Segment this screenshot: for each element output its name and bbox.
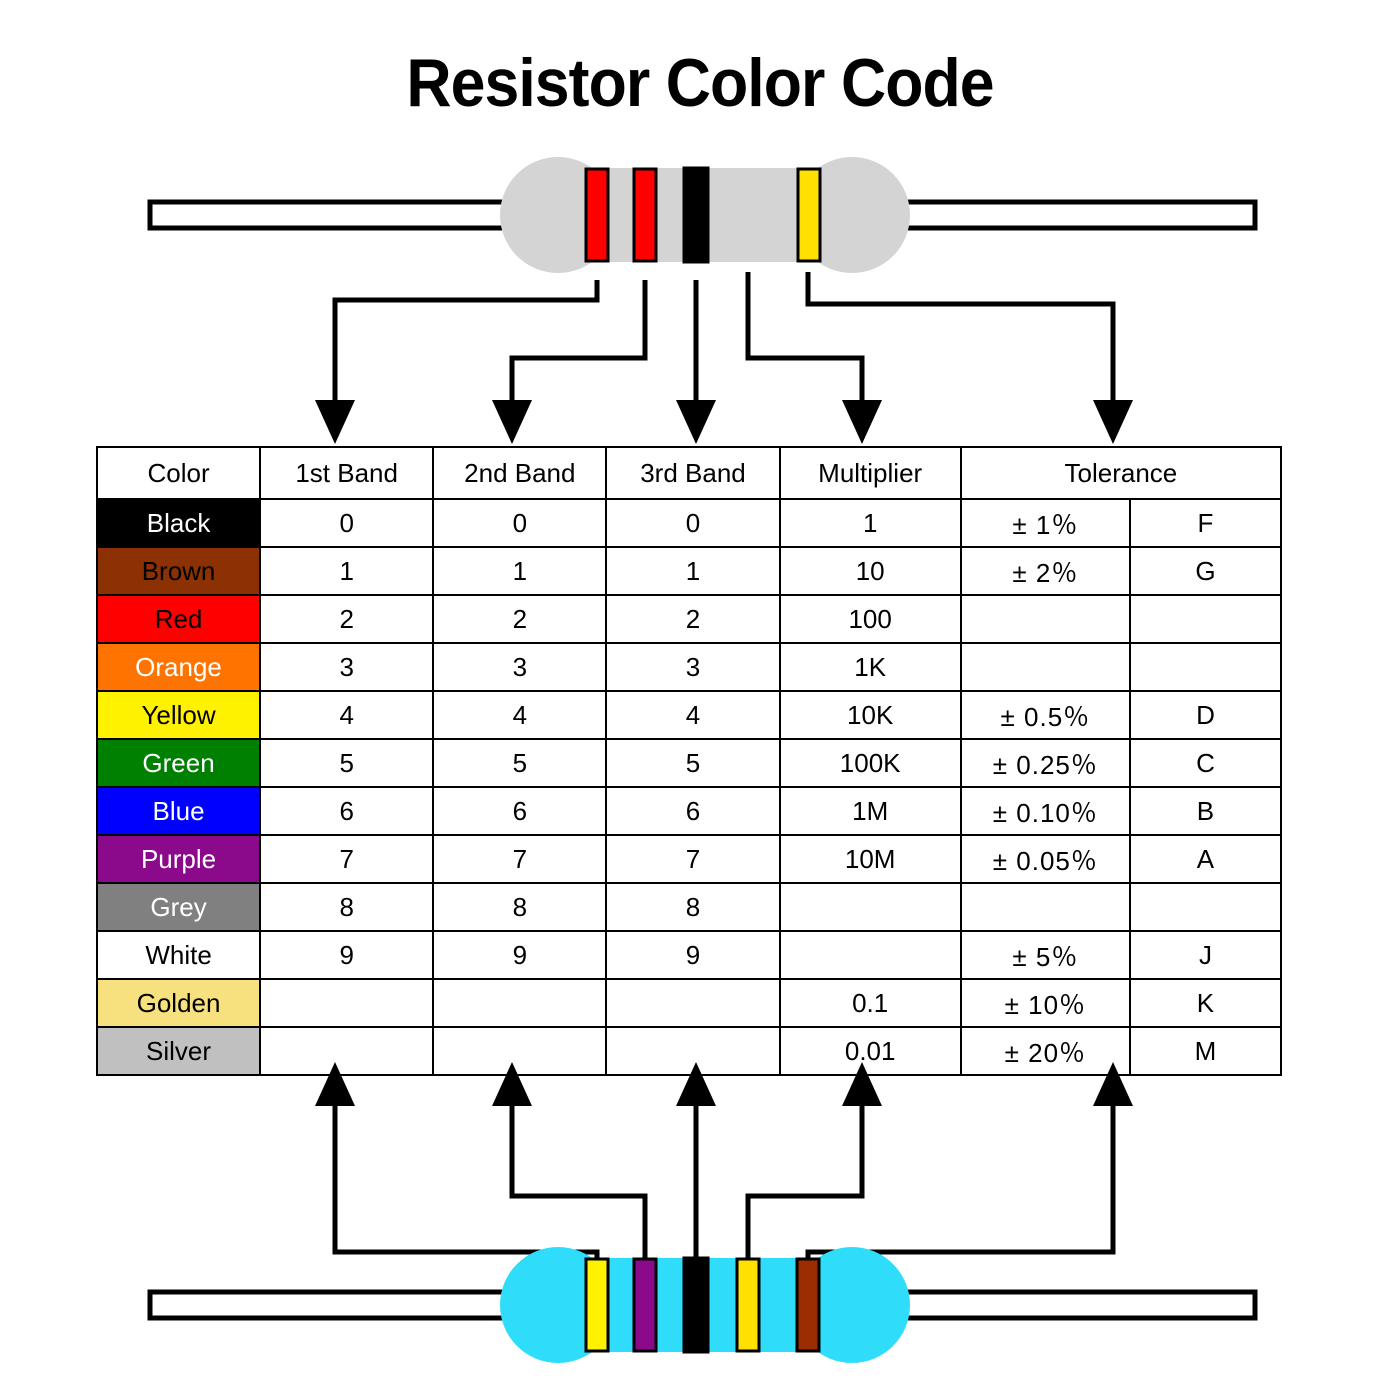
row-multiplier [780,931,961,979]
table-row: Orange3331K [97,643,1281,691]
row-color-swatch: Orange [97,643,260,691]
top-connector-lines [0,262,1400,452]
row-band-1: 1 [260,547,433,595]
row-band-3 [606,1027,779,1075]
table-row: White999± 5％J [97,931,1281,979]
arrowhead-band1 [315,400,355,444]
row-band-1: 7 [260,835,433,883]
row-tolerance-letter: D [1130,691,1281,739]
row-color-swatch: Yellow [97,691,260,739]
table-row: Blue6661M± 0.10％B [97,787,1281,835]
arrowhead-band2 [492,400,532,444]
header-band-3: 3rd Band [606,447,779,499]
row-tolerance: ± 0.5％ [961,691,1130,739]
row-band-2: 6 [433,787,606,835]
top-resistor-band-2 [634,169,656,261]
table-row: Golden0.1± 10％K [97,979,1281,1027]
row-band-2: 8 [433,883,606,931]
row-tolerance-letter [1130,643,1281,691]
top-resistor-band-1 [586,169,608,261]
row-multiplier: 10K [780,691,961,739]
row-band-2: 0 [433,499,606,547]
row-color-swatch: Blue [97,787,260,835]
bottom-resistor-left-lead [150,1292,550,1318]
arrowhead-tolerance [1093,400,1133,444]
table-row: Red222100 [97,595,1281,643]
connector-tolerance [808,272,1113,402]
row-multiplier: 0.1 [780,979,961,1027]
row-color-swatch: Silver [97,1027,260,1075]
bottom-resistor-band-multiplier [737,1259,759,1351]
table-header-row: Color 1st Band 2nd Band 3rd Band Multipl… [97,447,1281,499]
row-band-3: 8 [606,883,779,931]
row-multiplier: 1M [780,787,961,835]
row-tolerance-letter: A [1130,835,1281,883]
row-tolerance: ± 10％ [961,979,1130,1027]
row-color-swatch: White [97,931,260,979]
row-tolerance-letter: K [1130,979,1281,1027]
row-band-1: 3 [260,643,433,691]
row-tolerance-letter [1130,595,1281,643]
row-multiplier: 10 [780,547,961,595]
top-resistor-right-lead [870,202,1255,228]
row-band-1: 2 [260,595,433,643]
top-resistor-band-3 [684,168,708,262]
top-resistor-band-multiplier [798,169,820,261]
row-band-2: 4 [433,691,606,739]
row-color-swatch: Golden [97,979,260,1027]
row-color-swatch: Brown [97,547,260,595]
header-tolerance: Tolerance [961,447,1281,499]
row-tolerance-letter: C [1130,739,1281,787]
row-tolerance-letter: B [1130,787,1281,835]
row-tolerance-letter: J [1130,931,1281,979]
row-multiplier: 100 [780,595,961,643]
row-band-3: 4 [606,691,779,739]
row-multiplier: 100K [780,739,961,787]
row-band-1: 9 [260,931,433,979]
row-band-1 [260,1027,433,1075]
row-tolerance-letter: M [1130,1027,1281,1075]
row-tolerance: ± 1％ [961,499,1130,547]
bottom-resistor-right-lead [870,1292,1255,1318]
table-row: Silver0.01± 20％M [97,1027,1281,1075]
row-tolerance: ± 5％ [961,931,1130,979]
bottom-resistor-band-2 [634,1259,656,1351]
connector-band1 [335,280,597,402]
top-resistor-left-lead [150,202,550,228]
connector-band2 [512,280,645,402]
table-row: Yellow44410K± 0.5％D [97,691,1281,739]
header-color: Color [97,447,260,499]
row-band-1: 5 [260,739,433,787]
bottom-resistor-band-3 [684,1258,708,1352]
table-row: Grey888 [97,883,1281,931]
row-band-2: 2 [433,595,606,643]
resistor-color-code-infographic: Resistor Color Code [0,0,1400,1400]
arrowhead-multiplier [842,400,882,444]
row-multiplier: 10M [780,835,961,883]
row-tolerance [961,883,1130,931]
row-band-3: 9 [606,931,779,979]
row-tolerance: ± 2％ [961,547,1130,595]
header-multiplier: Multiplier [780,447,961,499]
table-row: Black0001± 1％F [97,499,1281,547]
bottom-resistor-illustration [0,1240,1400,1375]
row-band-3: 5 [606,739,779,787]
row-color-swatch: Red [97,595,260,643]
row-color-swatch: Black [97,499,260,547]
header-band-2: 2nd Band [433,447,606,499]
connector-multiplier [748,272,862,402]
row-band-2 [433,979,606,1027]
resistor-color-code-table: Color 1st Band 2nd Band 3rd Band Multipl… [96,446,1282,1076]
row-color-swatch: Green [97,739,260,787]
row-multiplier: 1K [780,643,961,691]
table-row: Brown11110± 2％G [97,547,1281,595]
row-color-swatch: Grey [97,883,260,931]
row-band-1: 6 [260,787,433,835]
row-multiplier [780,883,961,931]
row-band-1 [260,979,433,1027]
row-band-2: 9 [433,931,606,979]
row-band-2: 7 [433,835,606,883]
row-tolerance-letter: G [1130,547,1281,595]
row-tolerance: ± 0.05％ [961,835,1130,883]
page-title: Resistor Color Code [56,44,1344,122]
row-multiplier: 1 [780,499,961,547]
row-band-3: 0 [606,499,779,547]
row-band-2: 5 [433,739,606,787]
row-band-3: 7 [606,835,779,883]
row-tolerance-letter [1130,883,1281,931]
row-band-2: 3 [433,643,606,691]
row-band-1: 0 [260,499,433,547]
row-tolerance: ± 20％ [961,1027,1130,1075]
row-tolerance [961,595,1130,643]
row-tolerance: ± 0.25％ [961,739,1130,787]
bottom-resistor-band-tolerance [797,1259,819,1351]
top-resistor-illustration [0,150,1400,280]
row-band-3 [606,979,779,1027]
row-band-3: 3 [606,643,779,691]
row-color-swatch: Purple [97,835,260,883]
row-multiplier: 0.01 [780,1027,961,1075]
header-band-1: 1st Band [260,447,433,499]
row-tolerance: ± 0.10％ [961,787,1130,835]
row-band-3: 2 [606,595,779,643]
arrowhead-band3 [676,400,716,444]
row-band-3: 1 [606,547,779,595]
bottom-resistor-band-1 [586,1259,608,1351]
top-arrowheads [315,400,1133,444]
row-band-3: 6 [606,787,779,835]
row-band-2 [433,1027,606,1075]
row-band-1: 4 [260,691,433,739]
row-band-1: 8 [260,883,433,931]
row-tolerance-letter: F [1130,499,1281,547]
table-row: Purple77710M± 0.05％A [97,835,1281,883]
row-tolerance [961,643,1130,691]
row-band-2: 1 [433,547,606,595]
table-row: Green555100K± 0.25％C [97,739,1281,787]
